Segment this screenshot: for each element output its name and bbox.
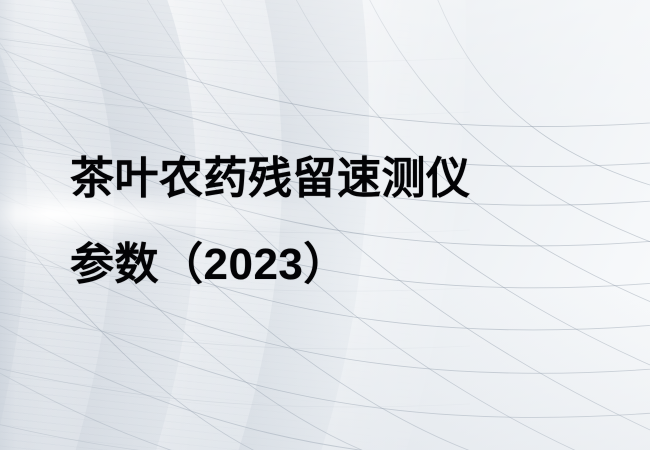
title-line-1: 茶叶农药残留速测仪 <box>70 136 590 222</box>
banner-image: 茶叶农药残留速测仪 参数（2023） <box>0 0 650 450</box>
title-line-2: 参数（2023） <box>70 222 590 308</box>
page-title: 茶叶农药残留速测仪 参数（2023） <box>70 136 590 308</box>
